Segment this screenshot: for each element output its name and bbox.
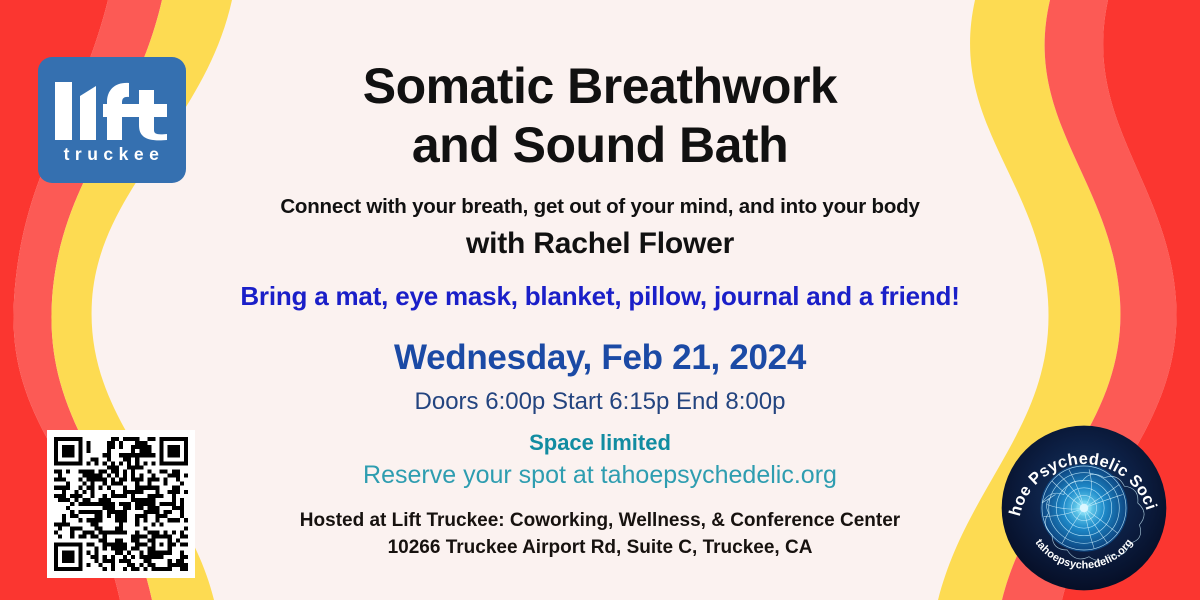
- event-presenter: with Rachel Flower: [0, 227, 1200, 261]
- event-flyer: truckee: [0, 0, 1200, 600]
- event-date: Wednesday, Feb 21, 2024: [0, 338, 1200, 378]
- qr-code-image: [54, 437, 188, 571]
- lift-wordmark-icon: [53, 80, 171, 142]
- lift-truckee-logo: truckee: [38, 57, 186, 183]
- bring-items-note: Bring a mat, eye mask, blanket, pillow, …: [0, 281, 1200, 312]
- lift-truckee-sub-word: truckee: [64, 146, 165, 164]
- qr-code[interactable]: [47, 430, 195, 578]
- tahoe-psychedelic-society-badge[interactable]: Tahoe Psychedelic Society tahoepsychedel…: [1000, 424, 1168, 592]
- event-tagline: Connect with your breath, get out of you…: [0, 195, 1200, 219]
- event-times: Doors 6:00p Start 6:15p End 8:00p: [0, 388, 1200, 416]
